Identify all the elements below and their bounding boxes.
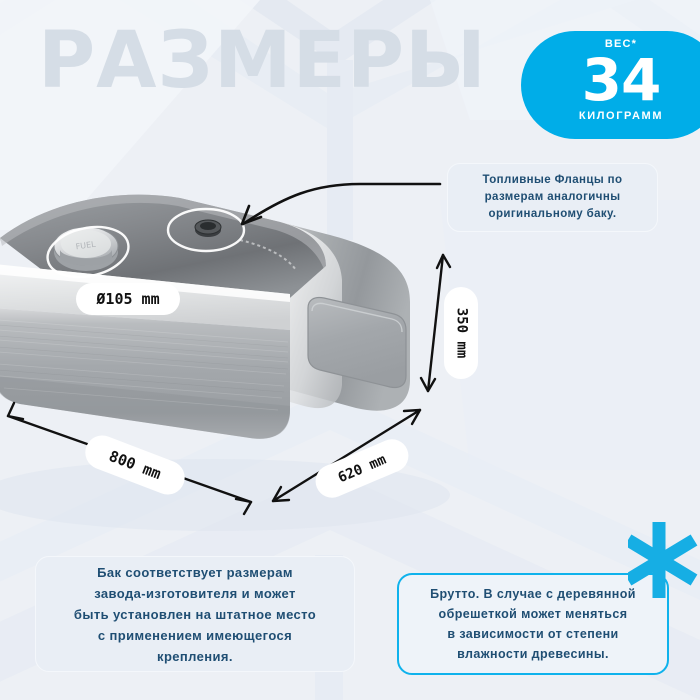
callout-bl-line1: Бак соответствует размерам <box>74 562 316 583</box>
callout-bl-line2: завода-изготовителя и может <box>74 583 316 604</box>
callout-flange-line2: размерам аналогичны <box>483 189 623 206</box>
dimension-label-diameter: Ø105 mm <box>76 283 180 315</box>
dimension-label-height: 350 mm <box>444 287 478 379</box>
callout-br-line1: Брутто. В случае с деревянной <box>430 584 636 604</box>
callout-bl-line3: быть установлен на штатное место <box>74 604 316 625</box>
asterisk-icon <box>628 518 700 600</box>
callout-bl-line5: крепления. <box>74 646 316 667</box>
dimension-label-height-text: 350 mm <box>453 308 469 359</box>
callout-flange-line1: Топливные Фланцы по <box>483 172 623 189</box>
callout-flange: Топливные Фланцы по размерам аналогичны … <box>447 163 658 232</box>
callout-br-line2: обрешеткой может меняться <box>430 604 636 624</box>
callout-bl-line4: с применением имеющегося <box>74 625 316 646</box>
callout-br-line4: влажности древесины. <box>430 644 636 664</box>
callout-factory-dimensions: Бак соответствует размерам завода-изгото… <box>35 556 355 672</box>
callout-flange-line3: оригинальному баку. <box>483 206 623 223</box>
callout-br-line3: в зависимости от степени <box>430 624 636 644</box>
infographic-canvas: РАЗМЕРЫ ВЕС* 34 КИЛОГРАММ <box>0 0 700 700</box>
